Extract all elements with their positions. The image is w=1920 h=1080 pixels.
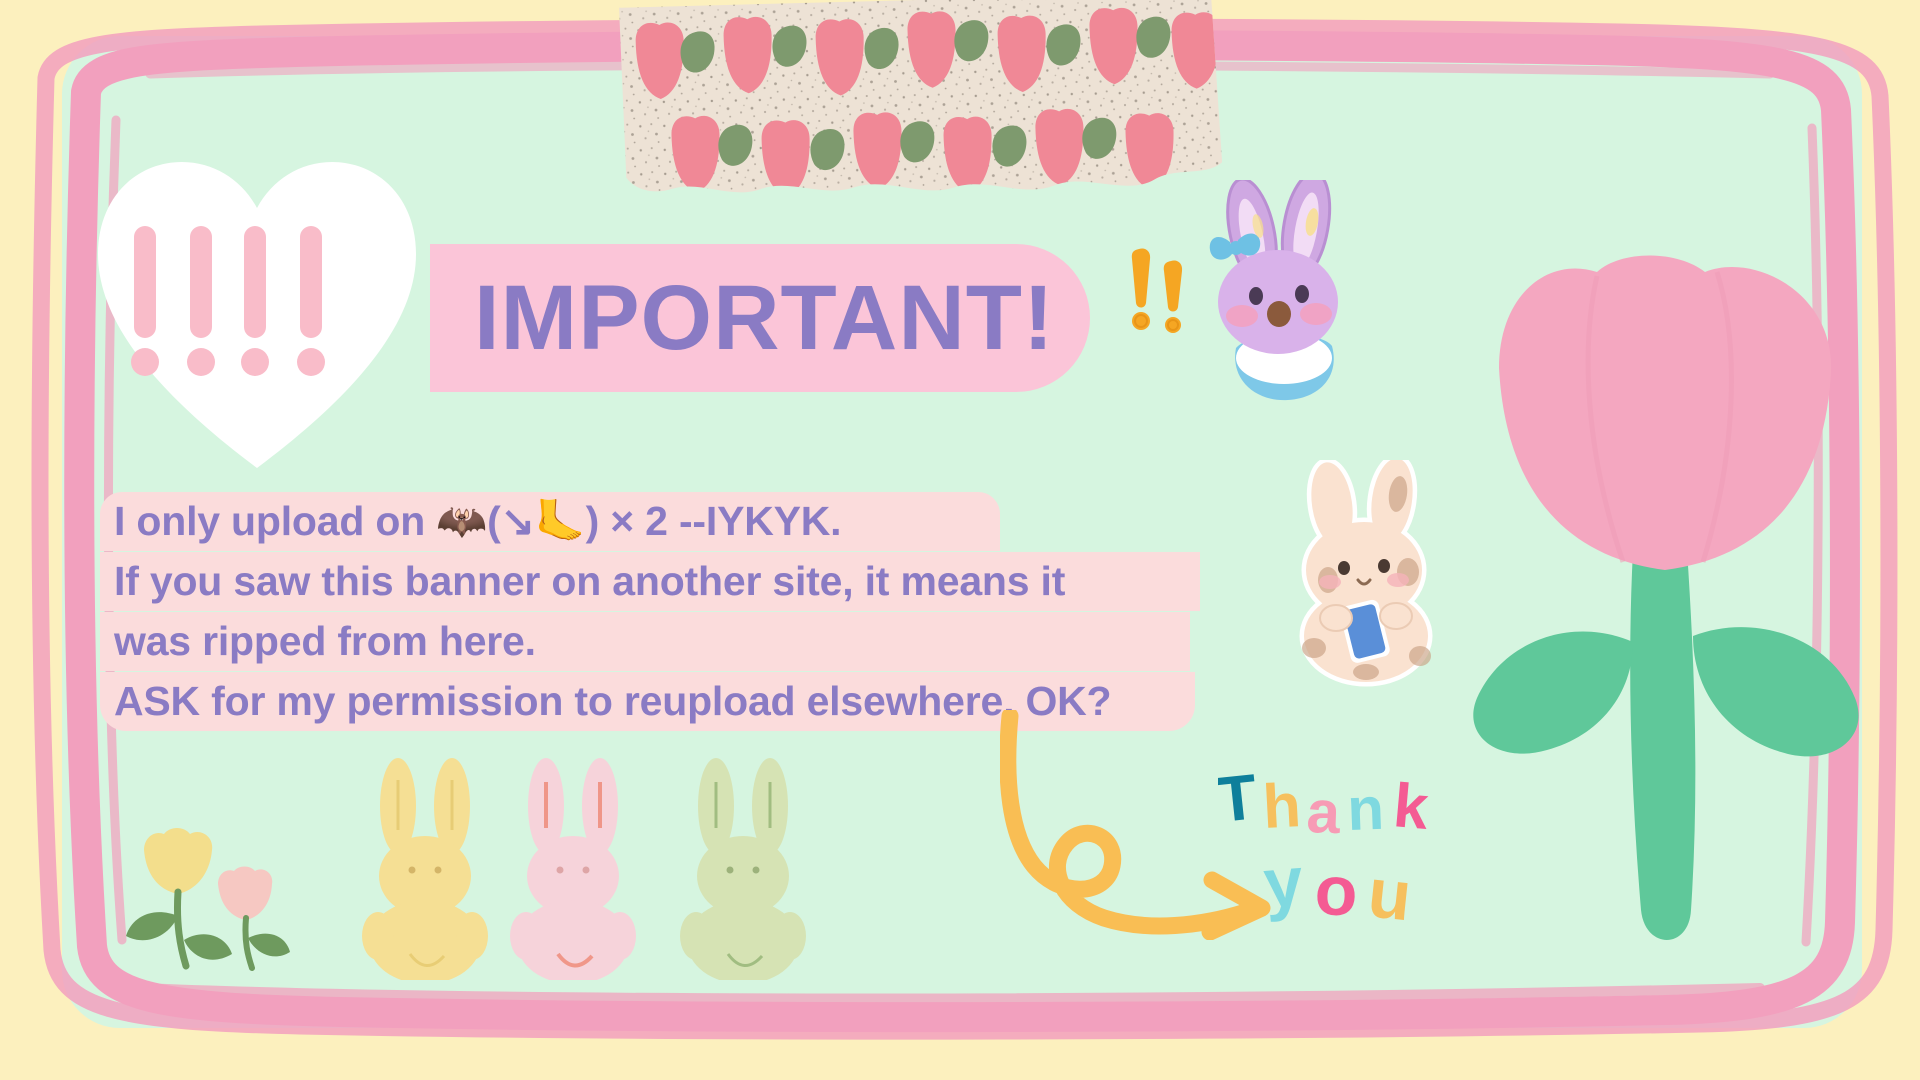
- flying-bunny-icon: [1160, 180, 1410, 430]
- washi-tape-tulip-pattern: [611, 0, 1229, 224]
- small-tulip-pair: [126, 828, 290, 968]
- gummy-bunny-pink: [510, 758, 636, 980]
- bottom-decoration-row: [100, 740, 980, 980]
- big-tulip-flower: [1455, 250, 1875, 970]
- thank-you-lettering: T h a n k y o u: [1218, 760, 1508, 940]
- sitting-bunny-with-phone-icon: [1270, 460, 1480, 690]
- body-text-block: I only upload on 🦇(↘🦶) × 2 --IYKYK. If y…: [100, 492, 1200, 732]
- thankyou-letter-u: u: [1364, 853, 1415, 935]
- thankyou-letter-h: h: [1261, 771, 1302, 842]
- body-line-3: was ripped from here.: [100, 612, 1200, 671]
- heart-icon: [92, 150, 422, 480]
- page-title: IMPORTANT!: [474, 258, 1114, 378]
- thankyou-letter-n: n: [1346, 775, 1385, 843]
- thankyou-letter-k: k: [1391, 771, 1432, 843]
- thankyou-letter-o: o: [1313, 851, 1358, 930]
- body-line-text: was ripped from here.: [114, 612, 536, 671]
- banner-canvas: IMPORTANT! I only upload on 🦇(↘🦶) × 2 --…: [0, 0, 1920, 1080]
- thankyou-letter-T: T: [1218, 760, 1260, 836]
- gummy-bunny-yellow: [362, 758, 488, 980]
- body-line-2: If you saw this banner on another site, …: [100, 552, 1200, 611]
- thankyou-letter-a: a: [1306, 778, 1342, 846]
- body-line-text: If you saw this banner on another site, …: [114, 552, 1065, 611]
- thankyou-letter-y: y: [1261, 842, 1307, 923]
- gummy-bunny-green: [680, 758, 806, 980]
- body-line-text: I only upload on 🦇(↘🦶) × 2 --IYKYK.: [114, 492, 841, 551]
- body-line-1: I only upload on 🦇(↘🦶) × 2 --IYKYK.: [100, 492, 1200, 551]
- body-line-text: ASK for my permission to reupload elsewh…: [114, 672, 1111, 731]
